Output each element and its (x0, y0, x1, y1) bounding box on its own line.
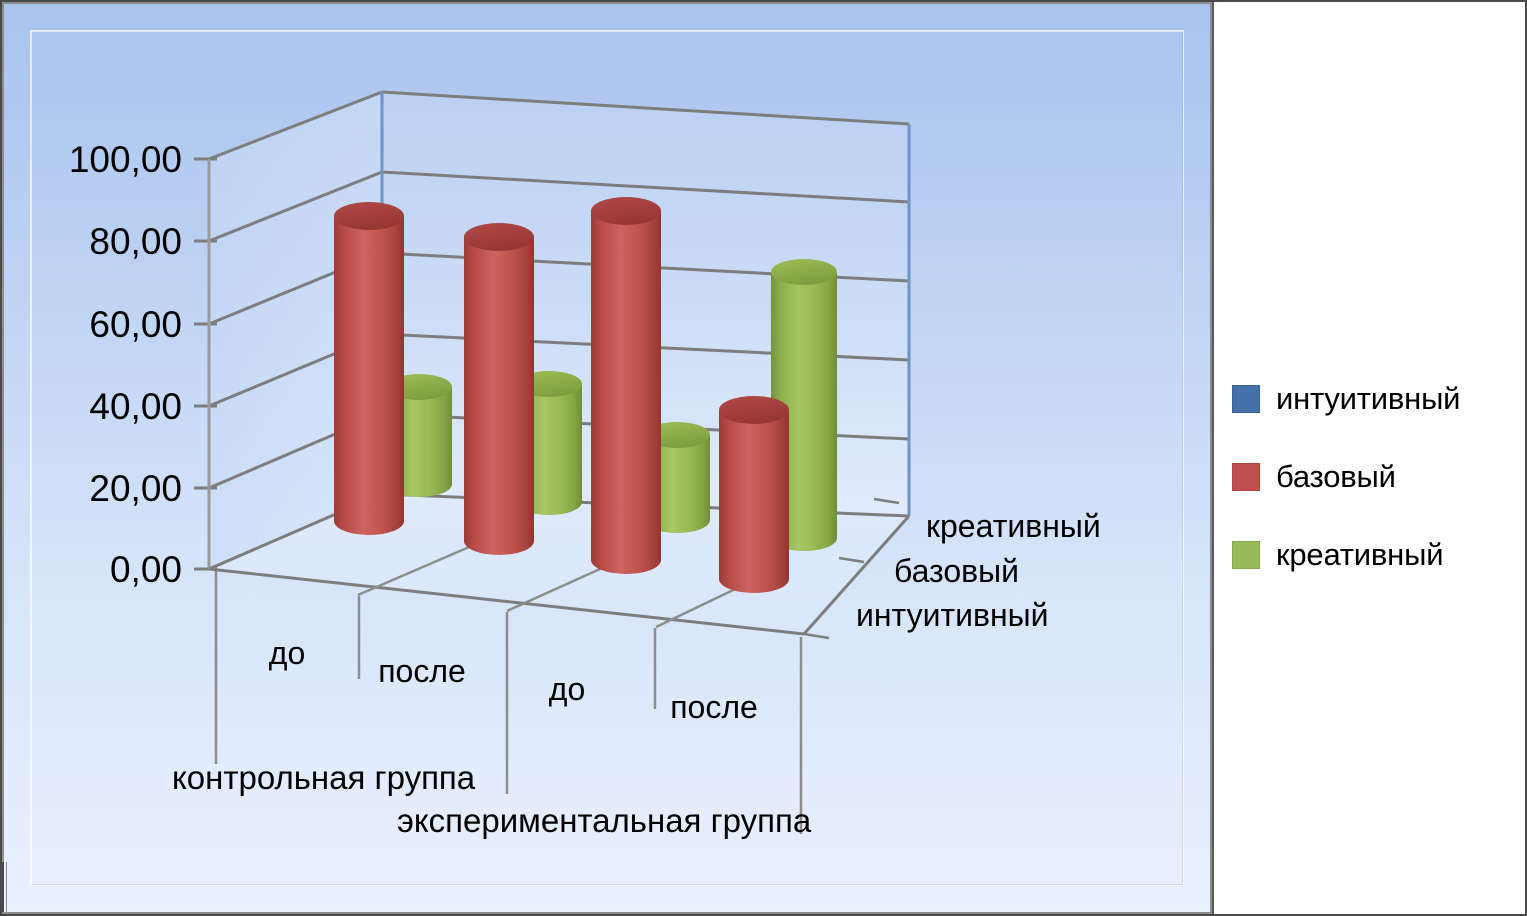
object-border (0, 0, 1527, 916)
chart-screenshot: 100,00 80,00 60,00 40,00 20,00 0,00 до п… (0, 0, 1527, 916)
selection-handle[interactable] (2, 862, 7, 912)
